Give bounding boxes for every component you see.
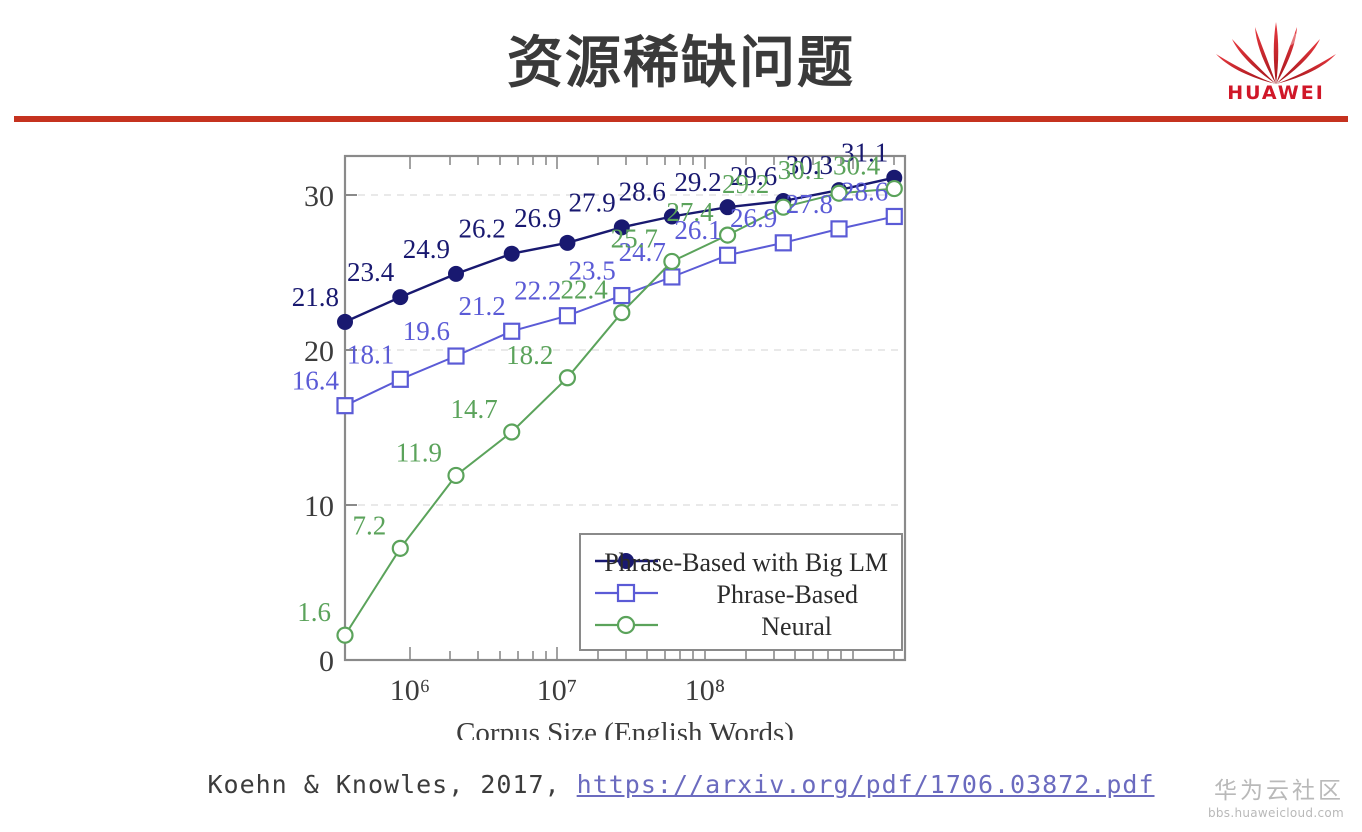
data-point-label: 24.9 — [403, 234, 450, 264]
data-point-marker — [393, 372, 408, 387]
y-tick-label: 20 — [304, 335, 334, 368]
line-chart: 0 10 20 30 — [250, 140, 1010, 740]
data-point-marker — [393, 541, 408, 556]
data-point-marker — [337, 314, 353, 330]
data-point-marker — [448, 266, 464, 282]
data-point-label: 25.7 — [611, 223, 658, 253]
data-point-marker — [614, 305, 629, 320]
citation-link[interactable]: https://arxiv.org/pdf/1706.03872.pdf — [577, 770, 1155, 799]
huawei-flower-icon — [1208, 14, 1344, 88]
data-point-marker — [560, 308, 575, 323]
legend-marker-open-circle — [618, 617, 634, 633]
chart-figure: 0 10 20 30 — [250, 140, 1010, 740]
data-point-label: 29.2 — [722, 169, 769, 199]
data-point-marker — [338, 398, 353, 413]
huawei-wordmark: HUAWEI — [1208, 82, 1344, 104]
data-point-marker — [559, 235, 575, 251]
x-tick-label: 10⁸ — [685, 674, 725, 707]
data-point-label: 21.8 — [292, 282, 339, 312]
x-axis-tick-labels: 10⁶ 10⁷ 10⁸ — [390, 674, 725, 707]
data-point-marker — [832, 221, 847, 236]
data-point-marker — [887, 209, 902, 224]
data-point-label: 26.9 — [730, 203, 777, 233]
data-point-label: 22.4 — [561, 275, 609, 305]
data-point-marker — [887, 181, 902, 196]
data-point-label: 19.6 — [403, 316, 450, 346]
data-point-marker — [504, 324, 519, 339]
data-point-marker — [560, 370, 575, 385]
citation-prefix: Koehn & Knowles, 2017, — [207, 770, 576, 799]
data-point-marker — [338, 628, 353, 643]
data-point-label: 7.2 — [353, 510, 387, 540]
data-point-label: 29.2 — [674, 167, 721, 197]
data-point-label: 21.2 — [458, 291, 505, 321]
data-point-label: 30.1 — [778, 155, 825, 185]
huawei-logo: HUAWEI — [1208, 14, 1344, 110]
chart-legend: Phrase-Based with Big LM Phrase-Based Ne… — [580, 534, 902, 650]
x-axis-title: Corpus Size (English Words) — [456, 717, 794, 740]
legend-label: Phrase-Based — [716, 580, 858, 609]
legend-label: Phrase-Based with Big LM — [604, 548, 888, 577]
data-point-label: 28.6 — [619, 176, 666, 206]
data-point-marker — [449, 349, 464, 364]
data-point-marker — [664, 269, 679, 284]
page-title: 资源稀缺问题 — [0, 18, 1362, 99]
data-point-marker — [776, 235, 791, 250]
data-point-marker — [504, 246, 520, 262]
data-point-marker — [720, 248, 735, 263]
data-point-label: 26.2 — [458, 214, 505, 244]
x-tick-label: 10⁷ — [537, 674, 577, 707]
legend-label: Neural — [761, 612, 832, 641]
y-tick-label: 10 — [304, 490, 334, 523]
data-point-label: 26.9 — [514, 203, 561, 233]
data-point-marker — [614, 288, 629, 303]
y-tick-label: 0 — [319, 645, 334, 678]
data-point-label: 11.9 — [396, 437, 442, 467]
slide-header: 资源稀缺问题 — [0, 0, 1362, 118]
data-point-label: 27.8 — [786, 189, 833, 219]
data-point-label: 18.2 — [506, 340, 553, 370]
watermark-title: 华为云社区 — [1208, 778, 1344, 804]
data-point-label: 27.4 — [666, 197, 714, 227]
data-point-label: 18.1 — [347, 339, 394, 369]
x-tick-label: 10⁶ — [390, 674, 430, 707]
data-point-label: 28.6 — [841, 176, 888, 206]
data-point-marker — [392, 289, 408, 305]
header-divider — [14, 116, 1348, 122]
data-point-label: 1.6 — [297, 597, 331, 627]
data-point-label: 16.4 — [292, 366, 340, 396]
data-point-label: 23.4 — [347, 257, 395, 287]
data-point-marker — [449, 468, 464, 483]
data-point-label: 22.2 — [514, 276, 561, 306]
watermark: 华为云社区 bbs.huaweicloud.com — [1208, 778, 1344, 820]
y-tick-label: 30 — [304, 180, 334, 213]
watermark-url: bbs.huaweicloud.com — [1208, 806, 1344, 820]
legend-marker-open-square — [618, 585, 634, 601]
data-point-label: 30.4 — [833, 151, 881, 181]
data-point-label: 27.9 — [569, 187, 616, 217]
data-point-label: 14.7 — [450, 394, 497, 424]
citation: Koehn & Knowles, 2017, https://arxiv.org… — [0, 770, 1362, 799]
data-point-marker — [504, 425, 519, 440]
data-point-marker — [664, 254, 679, 269]
